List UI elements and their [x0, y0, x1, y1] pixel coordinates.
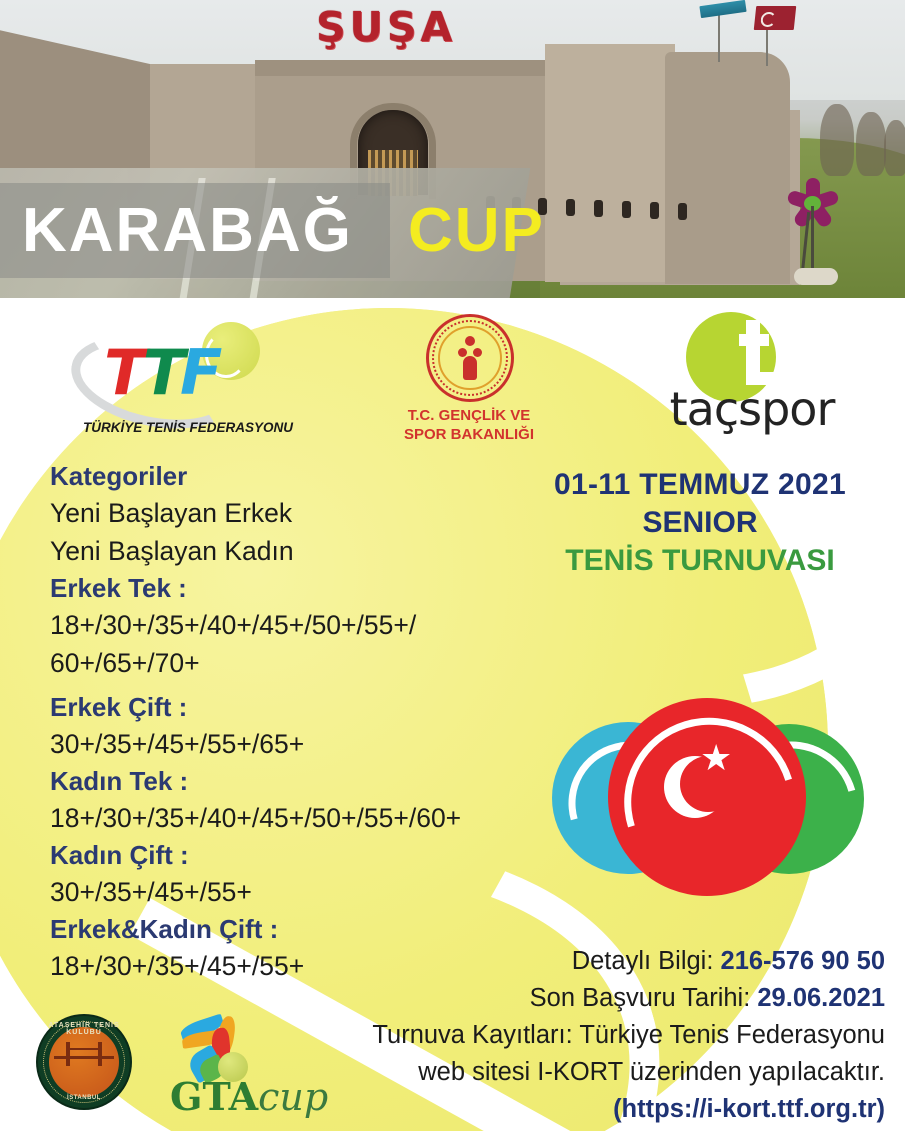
categories-heading: Kategoriler	[50, 458, 520, 494]
arrow-loop-icon	[622, 201, 631, 218]
registration-line-2: web sitesi I-KORT üzerinden yapılacaktır…	[300, 1054, 885, 1091]
ttf-letter-1: T	[104, 336, 143, 409]
contact-info-label: Detaylı Bilgi:	[572, 947, 721, 975]
fortress-photo: ŞUŞA KARABAĞ CUP	[0, 0, 905, 298]
club-name: ATAŞEHİR TENİS KULÜBÜ	[38, 1022, 130, 1036]
fortress-tower-1	[545, 44, 675, 282]
club-city: İSTANBUL	[38, 1095, 130, 1101]
arrow-loop-icon	[650, 202, 659, 219]
contact-deadline-label: Son Başvuru Tarihi:	[530, 984, 758, 1012]
sponsor-logo-row: TTF TÜRKİYE TENİS FEDERASYONU T.C. GENÇL…	[0, 306, 905, 446]
arrow-loop-icon	[678, 203, 687, 220]
poster-title: KARABAĞ	[22, 191, 353, 271]
ttf-letter-2: T	[143, 336, 180, 409]
star-icon: ★	[700, 740, 732, 776]
ttf-letter-3: F	[180, 336, 217, 409]
tree-icon	[856, 112, 886, 176]
poster: ŞUŞA KARABAĞ CUP	[0, 0, 905, 1131]
category-title-erkek-tek: Erkek Tek :	[50, 570, 520, 606]
categories-block: Kategoriler Yeni Başlayan Erkek Yeni Baş…	[50, 458, 520, 985]
category-title-kadin-tek: Kadın Tek :	[50, 763, 520, 799]
ttf-caption: TÜRKİYE TENİS FEDERASYONU	[78, 420, 298, 435]
category-title-erkek-cift: Erkek Çift :	[50, 689, 520, 725]
gta-word-main: GTA	[170, 1074, 258, 1119]
arrow-loop-icon	[594, 200, 603, 217]
category-values-kadin-tek: 18+/30+/35+/40+/45+/50+/55+/60+	[50, 799, 520, 837]
category-values-erkek-tek-line2: 60+/65+/70+	[50, 644, 520, 682]
category-title-kadin-cift: Kadın Çift :	[50, 837, 520, 873]
contact-deadline-line: Son Başvuru Tarihi: 29.06.2021	[300, 980, 885, 1017]
ministry-figure-icon	[458, 336, 482, 382]
ministry-name: T.C. GENÇLİK VE SPOR BAKANLIĞI	[374, 406, 564, 444]
contact-block: Detaylı Bilgi: 216-576 90 50 Son Başvuru…	[300, 943, 885, 1128]
susa-hill-sign: ŞUŞA	[316, 3, 456, 51]
contact-info-line: Detaylı Bilgi: 216-576 90 50	[300, 943, 885, 980]
event-dates: 01-11 TEMMUZ 2021	[500, 466, 900, 504]
turkish-flag-icon	[754, 6, 797, 30]
event-headline: 01-11 TEMMUZ 2021 SENIOR TENİS TURNUVASI	[500, 466, 900, 580]
event-level: SENIOR	[500, 504, 900, 542]
tacspor-logo: taçspor	[648, 312, 858, 447]
arrow-loop-icon	[566, 199, 575, 216]
ministry-logo: T.C. GENÇLİK VE SPOR BAKANLIĞI	[374, 314, 564, 446]
gta-cup-logo: GTAcup	[170, 1016, 340, 1121]
tennis-balls-graphic: ★	[552, 698, 882, 898]
contact-deadline-date: 29.06.2021	[757, 984, 885, 1012]
category-values-erkek-tek-line1: 18+/30+/35+/40+/45+/50+/55+/	[50, 606, 520, 644]
tree-icon	[820, 104, 854, 176]
registration-line-1: Turnuva Kayıtları: Türkiye Tenis Federas…	[300, 1017, 885, 1054]
category-intro-0: Yeni Başlayan Erkek	[50, 494, 520, 532]
contact-phone: 216-576 90 50	[721, 947, 885, 975]
ttf-monogram: TTF	[104, 342, 217, 404]
ministry-name-line1: T.C. GENÇLİK VE	[374, 406, 564, 425]
event-name: TENİS TURNUVASI	[500, 542, 900, 580]
atasehir-tenis-kulubu-logo: ATAŞEHİR TENİS KULÜBÜ İSTANBUL	[38, 1016, 130, 1108]
category-values-kadin-cift: 30+/35+/45+/55+	[50, 873, 520, 911]
ministry-name-line2: SPOR BAKANLIĞI	[374, 425, 564, 444]
category-values-erkek-cift: 30+/35+/45+/55+/65+	[50, 725, 520, 763]
ttf-logo: TTF TÜRKİYE TENİS FEDERASYONU	[78, 320, 298, 445]
category-intro-1: Yeni Başlayan Kadın	[50, 532, 520, 570]
tacspor-wordmark: taçspor	[642, 382, 862, 436]
tree-icon	[884, 120, 905, 176]
category-title-karisik-cift: Erkek&Kadın Çift :	[50, 911, 520, 947]
registration-url[interactable]: (https://i-kort.ttf.org.tr)	[300, 1091, 885, 1128]
gta-wordmark: GTAcup	[170, 1074, 328, 1119]
flagpole-left	[718, 10, 720, 62]
fortress-tower-2	[665, 52, 790, 284]
gta-word-italic: cup	[258, 1075, 328, 1119]
poster-title-accent: CUP	[408, 191, 545, 271]
poster-body: TTF TÜRKİYE TENİS FEDERASYONU T.C. GENÇL…	[0, 298, 905, 1131]
